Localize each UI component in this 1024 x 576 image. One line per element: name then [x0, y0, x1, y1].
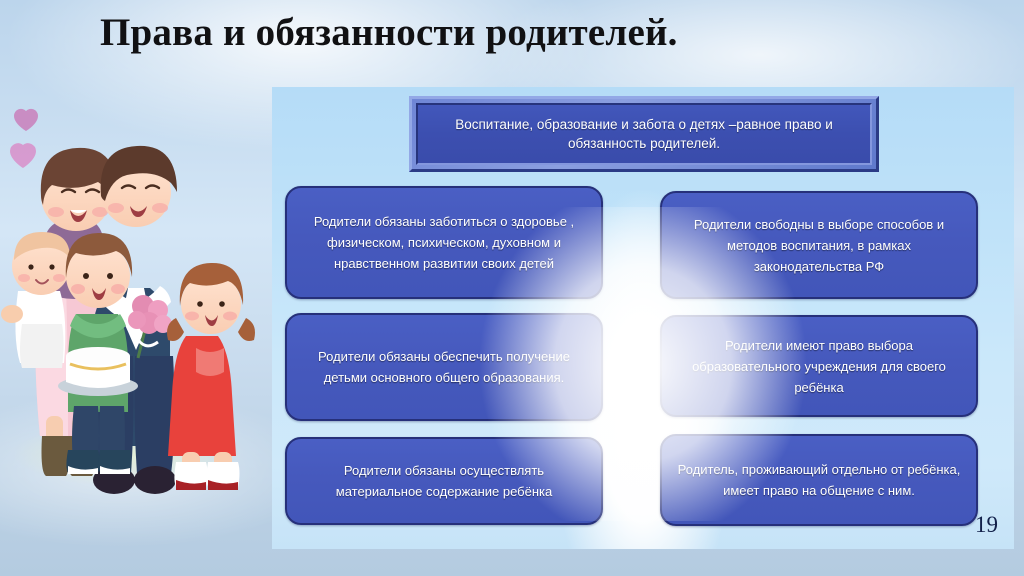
header-statement-box-inner: Воспитание, образование и забота о детях… [416, 103, 872, 165]
heart-decorations [10, 109, 38, 168]
duty-box-2-text: Родители обязаны обеспечить получение де… [301, 346, 587, 388]
right-box-1: Родители свободны в выборе способов и ме… [660, 191, 978, 299]
cartoon-family-illustration [0, 56, 275, 526]
figure-baby [1, 232, 70, 368]
rights-column: Родители свободны в выборе способов и ме… [660, 186, 978, 540]
duty-box-2: Родители обязаны обеспечить получение де… [285, 313, 603, 421]
slide-page-number: 19 [975, 512, 998, 538]
content-panel: Воспитание, образование и забота о детях… [272, 87, 1014, 549]
header-statement-box: Воспитание, образование и забота о детях… [409, 96, 879, 172]
right-box-2: Родители имеют право выбора образователь… [660, 315, 978, 417]
header-statement-text: Воспитание, образование и забота о детях… [432, 115, 856, 153]
birthday-cake-icon [58, 347, 138, 396]
family-illustration-svg [0, 56, 275, 526]
duties-column: Родители обязаны заботиться о здоровье ,… [285, 186, 603, 539]
duty-box-3-text: Родители обязаны осуществлять материальн… [301, 460, 587, 502]
duty-box-1-text: Родители обязаны заботиться о здоровье ,… [301, 211, 587, 274]
right-box-3-text: Родитель, проживающий отдельно от ребёнк… [676, 459, 962, 501]
duty-box-1: Родители обязаны заботиться о здоровье ,… [285, 186, 603, 299]
right-box-1-text: Родители свободны в выборе способов и ме… [676, 214, 962, 277]
right-box-3: Родитель, проживающий отдельно от ребёнк… [660, 434, 978, 526]
duty-box-3: Родители обязаны осуществлять материальн… [285, 437, 603, 525]
right-box-2-text: Родители имеют право выбора образователь… [676, 335, 962, 398]
page-title: Права и обязанности родителей. [100, 9, 800, 56]
red-sneakers-icon [174, 462, 239, 490]
